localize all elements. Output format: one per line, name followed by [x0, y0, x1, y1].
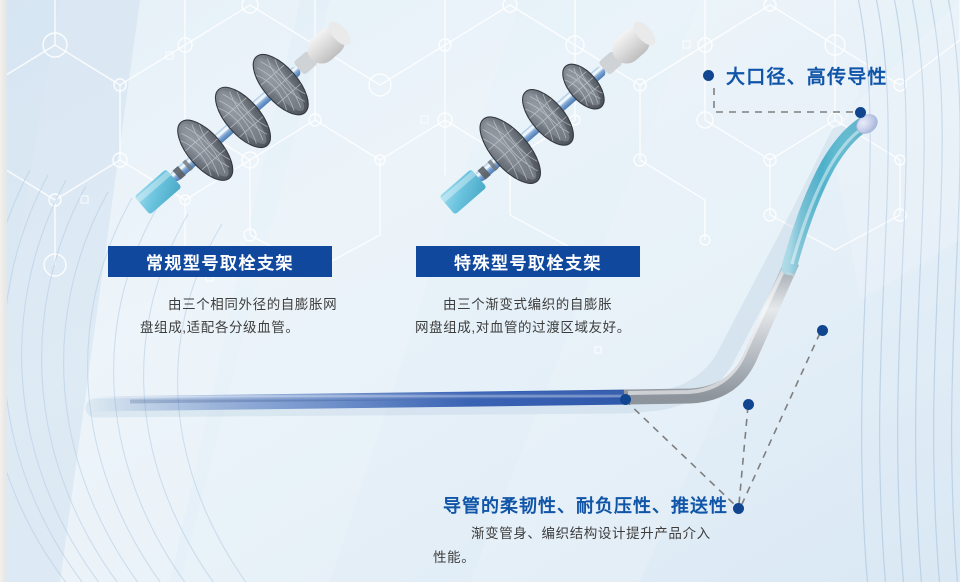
leader-top-right	[714, 88, 855, 112]
leader-bottom-2	[739, 406, 748, 504]
anchor-dot-transition	[743, 399, 754, 410]
callout-top-right-label: 大口径、高传导性	[726, 62, 888, 89]
callout-top-right: 大口径、高传导性	[703, 62, 888, 89]
bullet-dot-icon	[703, 70, 714, 81]
description-special-stent-line1: 由三个渐变式编织的自膨胀	[415, 293, 667, 316]
left-edge-strip	[0, 0, 7, 582]
badge-special-stent: 特殊型号取栓支架	[416, 246, 640, 277]
badge-standard-stent: 常规型号取栓支架	[108, 246, 332, 277]
description-standard-stent: 由三个相同外径的自膨胀网 盘组成,适配各分级血管。	[140, 293, 372, 339]
badge-special-stent-label: 特殊型号取栓支架	[454, 249, 602, 274]
infographic-canvas: 大口径、高传导性 常规型号取栓支架 由三个相同外径的自膨胀网 盘组成,适配各分级…	[0, 0, 960, 582]
description-standard-stent-line1: 由三个相同外径的自膨胀网	[140, 293, 372, 316]
leader-bottom-3	[742, 333, 820, 504]
leader-bottom-1	[625, 400, 736, 506]
description-special-stent-line2: 网盘组成,对血管的过渡区域友好。	[415, 320, 631, 335]
description-special-stent: 由三个渐变式编织的自膨胀 网盘组成,对血管的过渡区域友好。	[415, 293, 667, 339]
callout-bottom-body-line2: 性能。	[433, 550, 475, 565]
callout-bottom-body: 渐变管身、编织结构设计提升产品介入 性能。	[433, 522, 763, 570]
anchor-dot-top-right	[855, 107, 866, 118]
callout-bottom-title: 导管的柔韧性、耐负压性、推送性	[443, 492, 728, 518]
badge-standard-stent-label: 常规型号取栓支架	[146, 249, 294, 274]
anchor-dot-shaft	[620, 394, 631, 405]
anchor-dot-distal	[817, 325, 828, 336]
callout-bottom-body-line1: 渐变管身、编织结构设计提升产品介入	[433, 522, 763, 546]
anchor-dot-converge	[733, 503, 744, 514]
description-standard-stent-line2: 盘组成,适配各分级血管。	[140, 320, 299, 335]
